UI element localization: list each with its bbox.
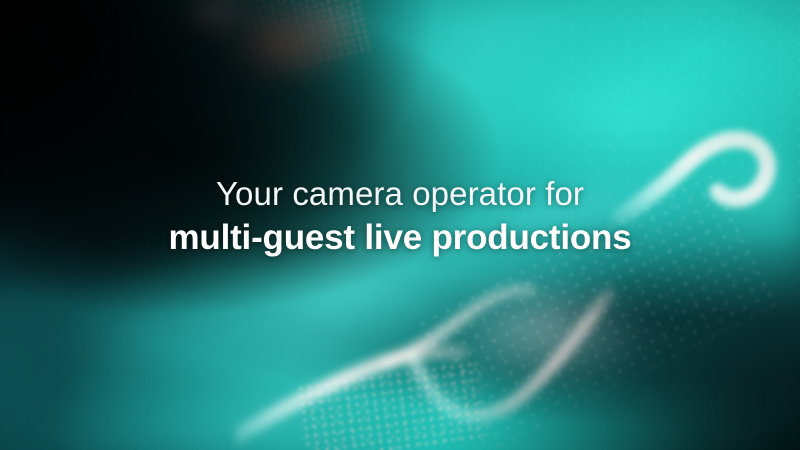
background-red-speckles-top — [237, 0, 372, 81]
background-white-glow-core — [430, 250, 730, 440]
background-pink-blob — [168, 0, 256, 44]
background-red-particle-cloud — [196, 0, 380, 94]
headline-line-emphasis: multi-guest live productions — [0, 218, 800, 257]
headline-line-primary: Your camera operator for — [0, 176, 800, 213]
hero-banner: Your camera operator for multi-guest liv… — [0, 0, 800, 450]
headline: Your camera operator for multi-guest liv… — [0, 176, 800, 257]
background-red-speckles-bottom — [295, 360, 488, 450]
background-pink-branch-ribbon — [236, 236, 636, 450]
